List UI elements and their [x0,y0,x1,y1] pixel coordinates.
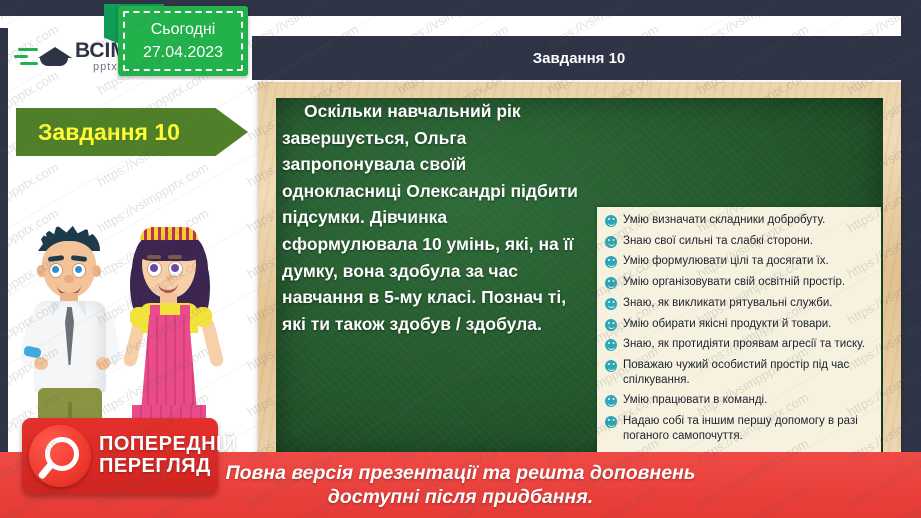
date-badge: Сьогодні 27.04.2023 [118,6,248,76]
skill-item-label: Поважаю чужий особистий простір під час … [623,358,875,387]
purchase-notice-line1: Повна версія презентації та решта доповн… [226,461,696,485]
smiley-face-icon [605,236,617,248]
skill-item[interactable]: Поважаю чужий особистий простір під час … [603,358,875,387]
characters-illustration [20,215,265,450]
chalkboard-task-text: Оскільки навчальний рік завершується, Ол… [282,98,582,337]
smiley-face-icon [605,319,617,331]
purchase-notice-line2: доступні після придбання. [328,485,593,509]
smiley-face-icon [605,277,617,289]
preview-badge[interactable]: ПОПЕРЕДНІЙ ПЕРЕГЛЯД [22,418,218,494]
skill-item[interactable]: Умію визначати складники добробуту. [603,213,875,228]
skill-item[interactable]: Знаю, як викликати рятувальні служби. [603,296,875,311]
smiley-face-icon [605,395,617,407]
skill-item[interactable]: Умію формулювати цілі та досягати їх. [603,254,875,269]
skill-item[interactable]: Знаю, як протидіяти проявам агресії та т… [603,337,875,352]
right-navy-column [901,16,921,490]
skill-item-label: Умію організовувати свій освітній прості… [623,275,845,290]
skill-item-label: Надаю собі та іншим першу допомогу в раз… [623,414,875,443]
preview-badge-line1: ПОПЕРЕДНІЙ [99,434,237,456]
skill-item[interactable]: Умію обирати якісні продукти й товари. [603,317,875,332]
preview-badge-line2: ПЕРЕГЛЯД [99,456,237,478]
skill-item[interactable]: Знаю свої сильні та слабкі сторони. [603,234,875,249]
task-banner: Завдання 10 [16,108,248,156]
smiley-face-icon [605,339,617,351]
slide-canvas: ВСІМ pptx Сьогодні 27.04.2023 Завдання 1… [0,0,921,518]
smiley-face-icon [605,416,617,428]
header-bar: Завдання 10 [252,36,906,80]
skill-item[interactable]: Умію працювати в команді. [603,393,875,408]
task-banner-label: Завдання 10 [38,119,180,146]
skill-item[interactable]: Умію організовувати свій освітній прості… [603,275,875,290]
skill-item-label: Знаю, як протидіяти проявам агресії та т… [623,337,865,352]
header-title: Завдання 10 [533,50,626,67]
skill-item-label: Умію формулювати цілі та досягати їх. [623,254,829,269]
skill-item-label: Знаю, як викликати рятувальні служби. [623,296,833,311]
skill-item-label: Знаю свої сильні та слабкі сторони. [623,234,813,249]
magnifier-icon [29,425,91,487]
skills-list: Умію визначати складники добробуту.Знаю … [597,207,881,472]
left-navy-column [0,28,8,490]
date-badge-value: 27.04.2023 [143,41,223,64]
skill-item-label: Умію обирати якісні продукти й товари. [623,317,831,332]
smiley-face-icon [605,215,617,227]
skill-item[interactable]: Надаю собі та іншим першу допомогу в раз… [603,414,875,443]
smiley-face-icon [605,298,617,310]
date-badge-label: Сьогодні [151,18,216,41]
skill-item-label: Умію працювати в команді. [623,393,767,408]
graduation-cap-icon [38,41,72,71]
cartoon-boy-illustration [24,225,129,450]
cartoon-girl-illustration [118,219,238,450]
skill-item-label: Умію визначати складники добробуту. [623,213,825,228]
smiley-face-icon [605,256,617,268]
smiley-face-icon [605,360,617,372]
